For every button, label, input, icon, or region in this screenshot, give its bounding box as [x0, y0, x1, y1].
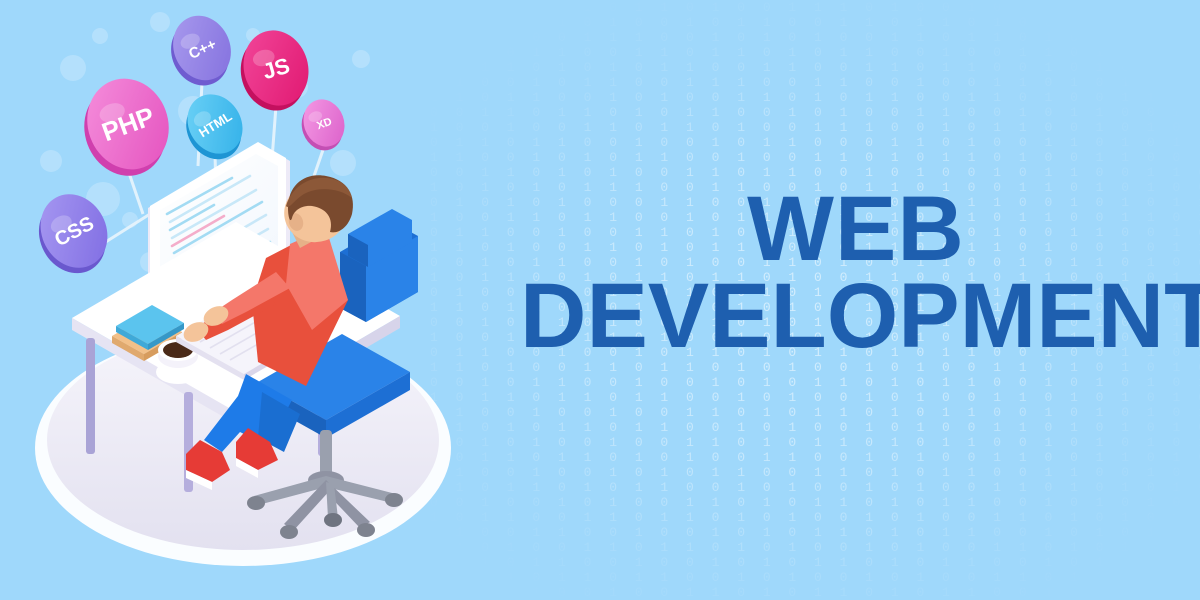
- tech-bubble-css: CSS: [24, 182, 122, 285]
- binary-row: 1 0 1 1 0 1 1 0 1 1 0 0 1 0 1 0 0 1 0 1 …: [430, 390, 1200, 405]
- binary-row: 1 1 0 1 0 0 1 1 0 1 1 0 1 0 1 0 0 1 0 1 …: [430, 540, 1200, 555]
- page-title: WEB DEVELOPMENT: [520, 186, 1192, 361]
- binary-row: 0 1 0 0 1 1 0 0 1 0 0 1 0 1 0 1 1 0 1 0 …: [430, 525, 1200, 540]
- binary-row: 0 1 0 0 1 1 0 1 0 0 1 0 1 1 0 0 1 1 0 1 …: [430, 15, 1200, 30]
- binary-row: 1 0 1 1 0 0 1 0 1 1 0 1 0 0 1 1 1 0 1 0 …: [430, 0, 1200, 15]
- tech-bubble-xd: XD: [294, 94, 352, 157]
- binary-row: 1 0 0 1 0 0 1 1 0 1 1 0 1 0 0 1 1 1 0 0 …: [430, 120, 1200, 135]
- binary-row: 1 1 0 1 0 0 1 1 1 0 0 1 0 1 0 1 0 0 1 1 …: [430, 30, 1200, 45]
- binary-row: 0 0 1 0 1 1 0 0 1 0 0 1 0 1 0 1 1 0 1 0 …: [430, 555, 1200, 570]
- binary-row: 0 1 0 0 1 0 0 1 0 1 0 1 1 0 0 1 1 0 1 0 …: [430, 465, 1200, 480]
- web-development-banner: 1 0 1 1 0 0 1 0 1 1 0 1 0 0 1 1 1 0 1 0 …: [0, 0, 1200, 600]
- binary-row: 1 0 1 1 0 1 1 0 1 0 1 0 0 1 1 0 0 1 0 1 …: [430, 450, 1200, 465]
- developer-illustration: CSS PHP C++ JS: [0, 0, 470, 600]
- tech-bubble-php: PHP: [70, 67, 183, 187]
- binary-row: 0 0 1 0 1 1 0 0 1 1 0 1 1 0 1 0 1 1 0 0 …: [430, 45, 1200, 60]
- binary-row: 1 0 1 1 0 1 1 0 1 1 0 0 1 0 1 0 0 1 0 1 …: [430, 570, 1200, 585]
- binary-row: 0 1 0 0 1 0 0 1 0 0 1 1 0 1 0 1 1 0 1 0 …: [430, 405, 1200, 420]
- tech-bubble-cpp: C++: [159, 6, 242, 94]
- binary-row: 0 1 0 0 1 0 1 1 0 0 1 1 1 0 0 1 1 0 0 1 …: [430, 75, 1200, 90]
- binary-row: 1 0 1 1 0 1 0 1 0 1 1 0 0 1 1 0 0 1 1 0 …: [430, 60, 1200, 75]
- binary-row: 0 1 0 0 1 0 0 1 0 0 1 1 0 1 0 1 1 0 1 0 …: [430, 585, 1200, 600]
- headline-line-1: WEB: [520, 186, 1192, 273]
- binary-row: 1 1 0 1 1 0 1 0 1 1 0 0 1 0 1 0 0 1 0 1 …: [430, 480, 1200, 495]
- binary-row: 0 0 1 0 1 0 0 1 0 0 1 1 0 1 0 1 1 0 1 0 …: [430, 435, 1200, 450]
- binary-row: 1 1 0 1 0 1 1 0 1 1 0 0 1 0 1 0 0 1 0 1 …: [430, 420, 1200, 435]
- binary-row: 1 0 1 1 0 0 1 1 0 1 1 0 1 0 1 0 0 1 0 1 …: [430, 510, 1200, 525]
- binary-row: 0 0 1 1 0 1 1 0 1 0 1 1 0 0 1 0 1 0 0 1 …: [430, 105, 1200, 120]
- binary-row: 0 1 1 0 1 1 0 0 1 0 0 1 0 1 1 0 0 0 1 1 …: [430, 135, 1200, 150]
- binary-row: 0 0 1 0 0 1 0 1 0 0 1 1 0 1 0 1 1 0 1 0 …: [430, 495, 1200, 510]
- binary-row: 0 0 1 0 1 1 0 0 1 0 0 1 0 1 0 1 1 0 1 0 …: [430, 375, 1200, 390]
- binary-row: 1 1 0 1 1 0 0 1 0 1 0 0 1 1 0 1 0 1 1 0 …: [430, 90, 1200, 105]
- headline-line-2: DEVELOPMENT: [520, 273, 1192, 360]
- tech-bubble-js: JS: [231, 23, 318, 119]
- binary-row: 1 1 0 0 1 0 1 0 1 1 0 0 1 0 0 1 1 0 1 0 …: [430, 150, 1200, 165]
